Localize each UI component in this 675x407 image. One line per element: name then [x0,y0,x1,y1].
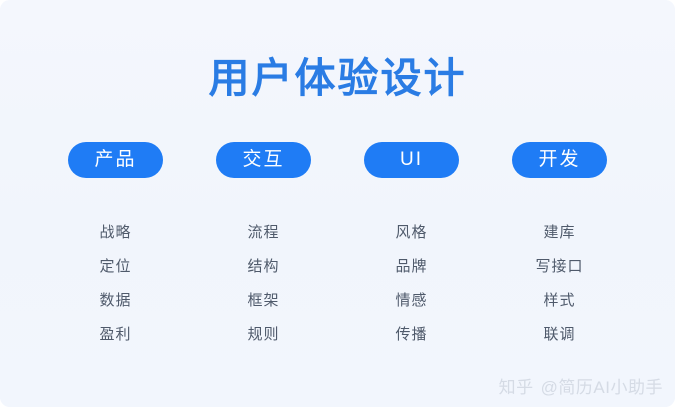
list-item: 品牌 [395,250,427,284]
list-item: 流程 [247,216,279,250]
grid-column-ui: 风格 品牌 情感 传播 [364,216,459,352]
list-item: 数据 [99,284,131,318]
grid-column-development: 建库 写接口 样式 联调 [512,216,607,352]
category-pill-row: 产品 交互 UI 开发 [68,142,607,178]
category-pill-product[interactable]: 产品 [68,142,163,178]
list-item: 战略 [99,216,131,250]
list-item: 风格 [395,216,427,250]
list-item: 情感 [395,284,427,318]
watermark-handle: @简历AI小助手 [541,377,663,399]
list-item: 盈利 [99,318,131,352]
watermark-brand: 知乎 [499,377,534,399]
list-item: 定位 [99,250,131,284]
list-item: 样式 [543,284,575,318]
category-pill-ui[interactable]: UI [364,142,459,178]
list-item: 建库 [543,216,575,250]
watermark: 知乎 @简历AI小助手 [499,377,663,399]
list-item: 框架 [247,284,279,318]
category-pill-development[interactable]: 开发 [512,142,607,178]
grid-column-interaction: 流程 结构 框架 规则 [216,216,311,352]
list-item: 写接口 [535,250,583,284]
page-title: 用户体验设计 [0,52,675,104]
list-item: 传播 [395,318,427,352]
poster-card: 用户体验设计 产品 交互 UI 开发 战略 定位 数据 盈利 流程 结构 框架 … [0,0,675,407]
list-item: 联调 [543,318,575,352]
category-pill-interaction[interactable]: 交互 [216,142,311,178]
list-item: 结构 [247,250,279,284]
list-item: 规则 [247,318,279,352]
items-grid: 战略 定位 数据 盈利 流程 结构 框架 规则 风格 品牌 情感 传播 建库 写… [68,216,607,352]
grid-column-product: 战略 定位 数据 盈利 [68,216,163,352]
